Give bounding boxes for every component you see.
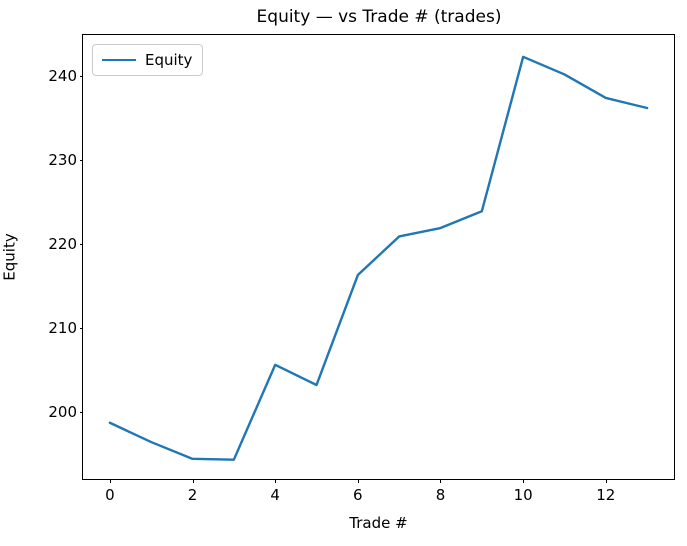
x-tick-label: 10 [514,486,533,504]
legend-line-icon [102,59,136,61]
chart-legend[interactable]: Equity [92,44,203,76]
y-tick-label: 230 [48,151,77,169]
y-tick-label: 220 [48,235,77,253]
x-tick-mark [110,479,111,483]
y-tick-mark [80,244,84,245]
x-tick-mark [523,479,524,483]
x-tick-mark [440,479,441,483]
plot-area [83,35,674,479]
y-tick-mark [80,412,84,413]
x-tick-label: 12 [596,486,615,504]
chart-figure: Equity — vs Trade # (trades) Equity 2002… [0,0,687,546]
y-tick-mark [80,160,84,161]
y-tick-label: 200 [48,403,77,421]
y-axis-label-text: Equity [1,233,19,280]
x-tick-mark [358,479,359,483]
page-title: Equity — vs Trade # (trades) [82,7,676,27]
legend-label-equity: Equity [145,51,192,69]
x-tick-mark [193,479,194,483]
x-tick-label: 8 [436,486,446,504]
equity-line-path [110,57,647,460]
x-tick-mark [606,479,607,483]
y-tick-label: 210 [48,319,77,337]
x-tick-mark [275,479,276,483]
x-tick-label: 0 [105,486,115,504]
line-series-svg [83,35,674,479]
y-tick-mark [80,328,84,329]
x-tick-label: 6 [353,486,363,504]
y-tick-mark [80,76,84,77]
x-tick-label: 4 [270,486,280,504]
y-tick-label: 240 [48,67,77,85]
plot-axes: 200210220230240 024681012 Equity [82,34,675,480]
y-axis-label: Equity [0,34,20,480]
x-tick-label: 2 [188,486,198,504]
x-axis-label: Trade # [82,514,675,532]
